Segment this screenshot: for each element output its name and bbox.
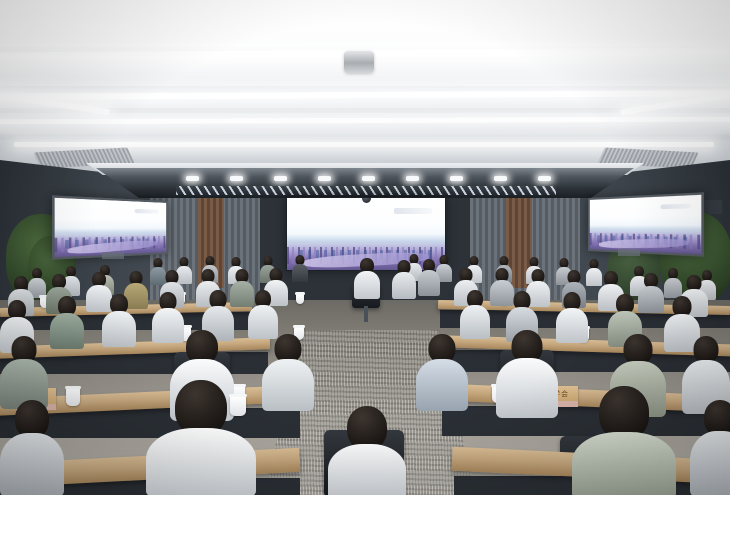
attendee-body bbox=[392, 272, 416, 299]
screen-watermark bbox=[661, 203, 691, 208]
page-bottom-margin bbox=[0, 495, 730, 548]
teacup-lid bbox=[65, 386, 81, 389]
downlight bbox=[406, 176, 419, 181]
right-side-display bbox=[588, 192, 704, 257]
left-side-display bbox=[52, 195, 168, 260]
attendee bbox=[50, 296, 84, 346]
attendee-body bbox=[690, 431, 730, 495]
attendee-body bbox=[354, 271, 380, 299]
teacup bbox=[296, 294, 304, 304]
attendee bbox=[682, 336, 730, 408]
screen-watermark bbox=[394, 208, 432, 214]
downlight bbox=[274, 176, 287, 181]
attendee bbox=[690, 400, 730, 495]
downlight bbox=[318, 176, 331, 181]
chair-post bbox=[364, 306, 368, 322]
front-attendee bbox=[392, 260, 416, 298]
downlight bbox=[538, 176, 551, 181]
attendee bbox=[556, 292, 588, 340]
ceiling-speaker-icon bbox=[344, 51, 374, 73]
attendee bbox=[102, 294, 136, 344]
attendee bbox=[496, 330, 558, 414]
attendee bbox=[0, 336, 48, 404]
display-label-plate bbox=[102, 252, 124, 259]
attendee-body bbox=[50, 313, 84, 349]
attendee-head bbox=[694, 336, 719, 363]
display-label-plate bbox=[618, 249, 640, 256]
front-attendee bbox=[354, 258, 380, 298]
downlight bbox=[450, 176, 463, 181]
attendee bbox=[460, 290, 490, 336]
ceiling-light-strip bbox=[14, 142, 714, 147]
attendee-body bbox=[418, 270, 440, 296]
attendee-body bbox=[328, 444, 406, 495]
ceiling bbox=[0, 0, 730, 186]
ceiling-light-strip bbox=[0, 117, 730, 125]
attendee bbox=[572, 386, 676, 495]
attendee-body bbox=[292, 264, 308, 282]
attendee bbox=[248, 290, 278, 336]
attendee-body bbox=[496, 358, 558, 418]
teacup bbox=[66, 388, 80, 406]
attendee bbox=[146, 380, 256, 495]
screen-watermark bbox=[135, 209, 159, 214]
attendee-body bbox=[102, 311, 136, 347]
conference-room-photograph: 中子台 张学会 bbox=[0, 0, 730, 495]
downlight bbox=[494, 176, 507, 181]
downlight bbox=[230, 176, 243, 181]
attendee-body bbox=[262, 359, 314, 411]
front-attendee bbox=[418, 259, 440, 295]
attendee bbox=[328, 406, 406, 495]
ceiling-band bbox=[0, 134, 730, 140]
attendee-body bbox=[556, 308, 588, 343]
attendee-body bbox=[416, 359, 468, 411]
teacup-lid bbox=[293, 325, 305, 328]
photo-page: 中子台 张学会 bbox=[0, 0, 730, 548]
attendee bbox=[262, 334, 314, 406]
lighting-truss bbox=[176, 186, 556, 195]
attendee bbox=[292, 255, 308, 281]
downlight bbox=[362, 176, 375, 181]
teacup-lid bbox=[295, 292, 305, 295]
attendee bbox=[416, 334, 468, 406]
downlight bbox=[186, 176, 199, 181]
attendee-body bbox=[146, 428, 256, 495]
attendee-body bbox=[572, 432, 676, 495]
attendee-body bbox=[0, 433, 64, 495]
attendee bbox=[0, 400, 64, 495]
